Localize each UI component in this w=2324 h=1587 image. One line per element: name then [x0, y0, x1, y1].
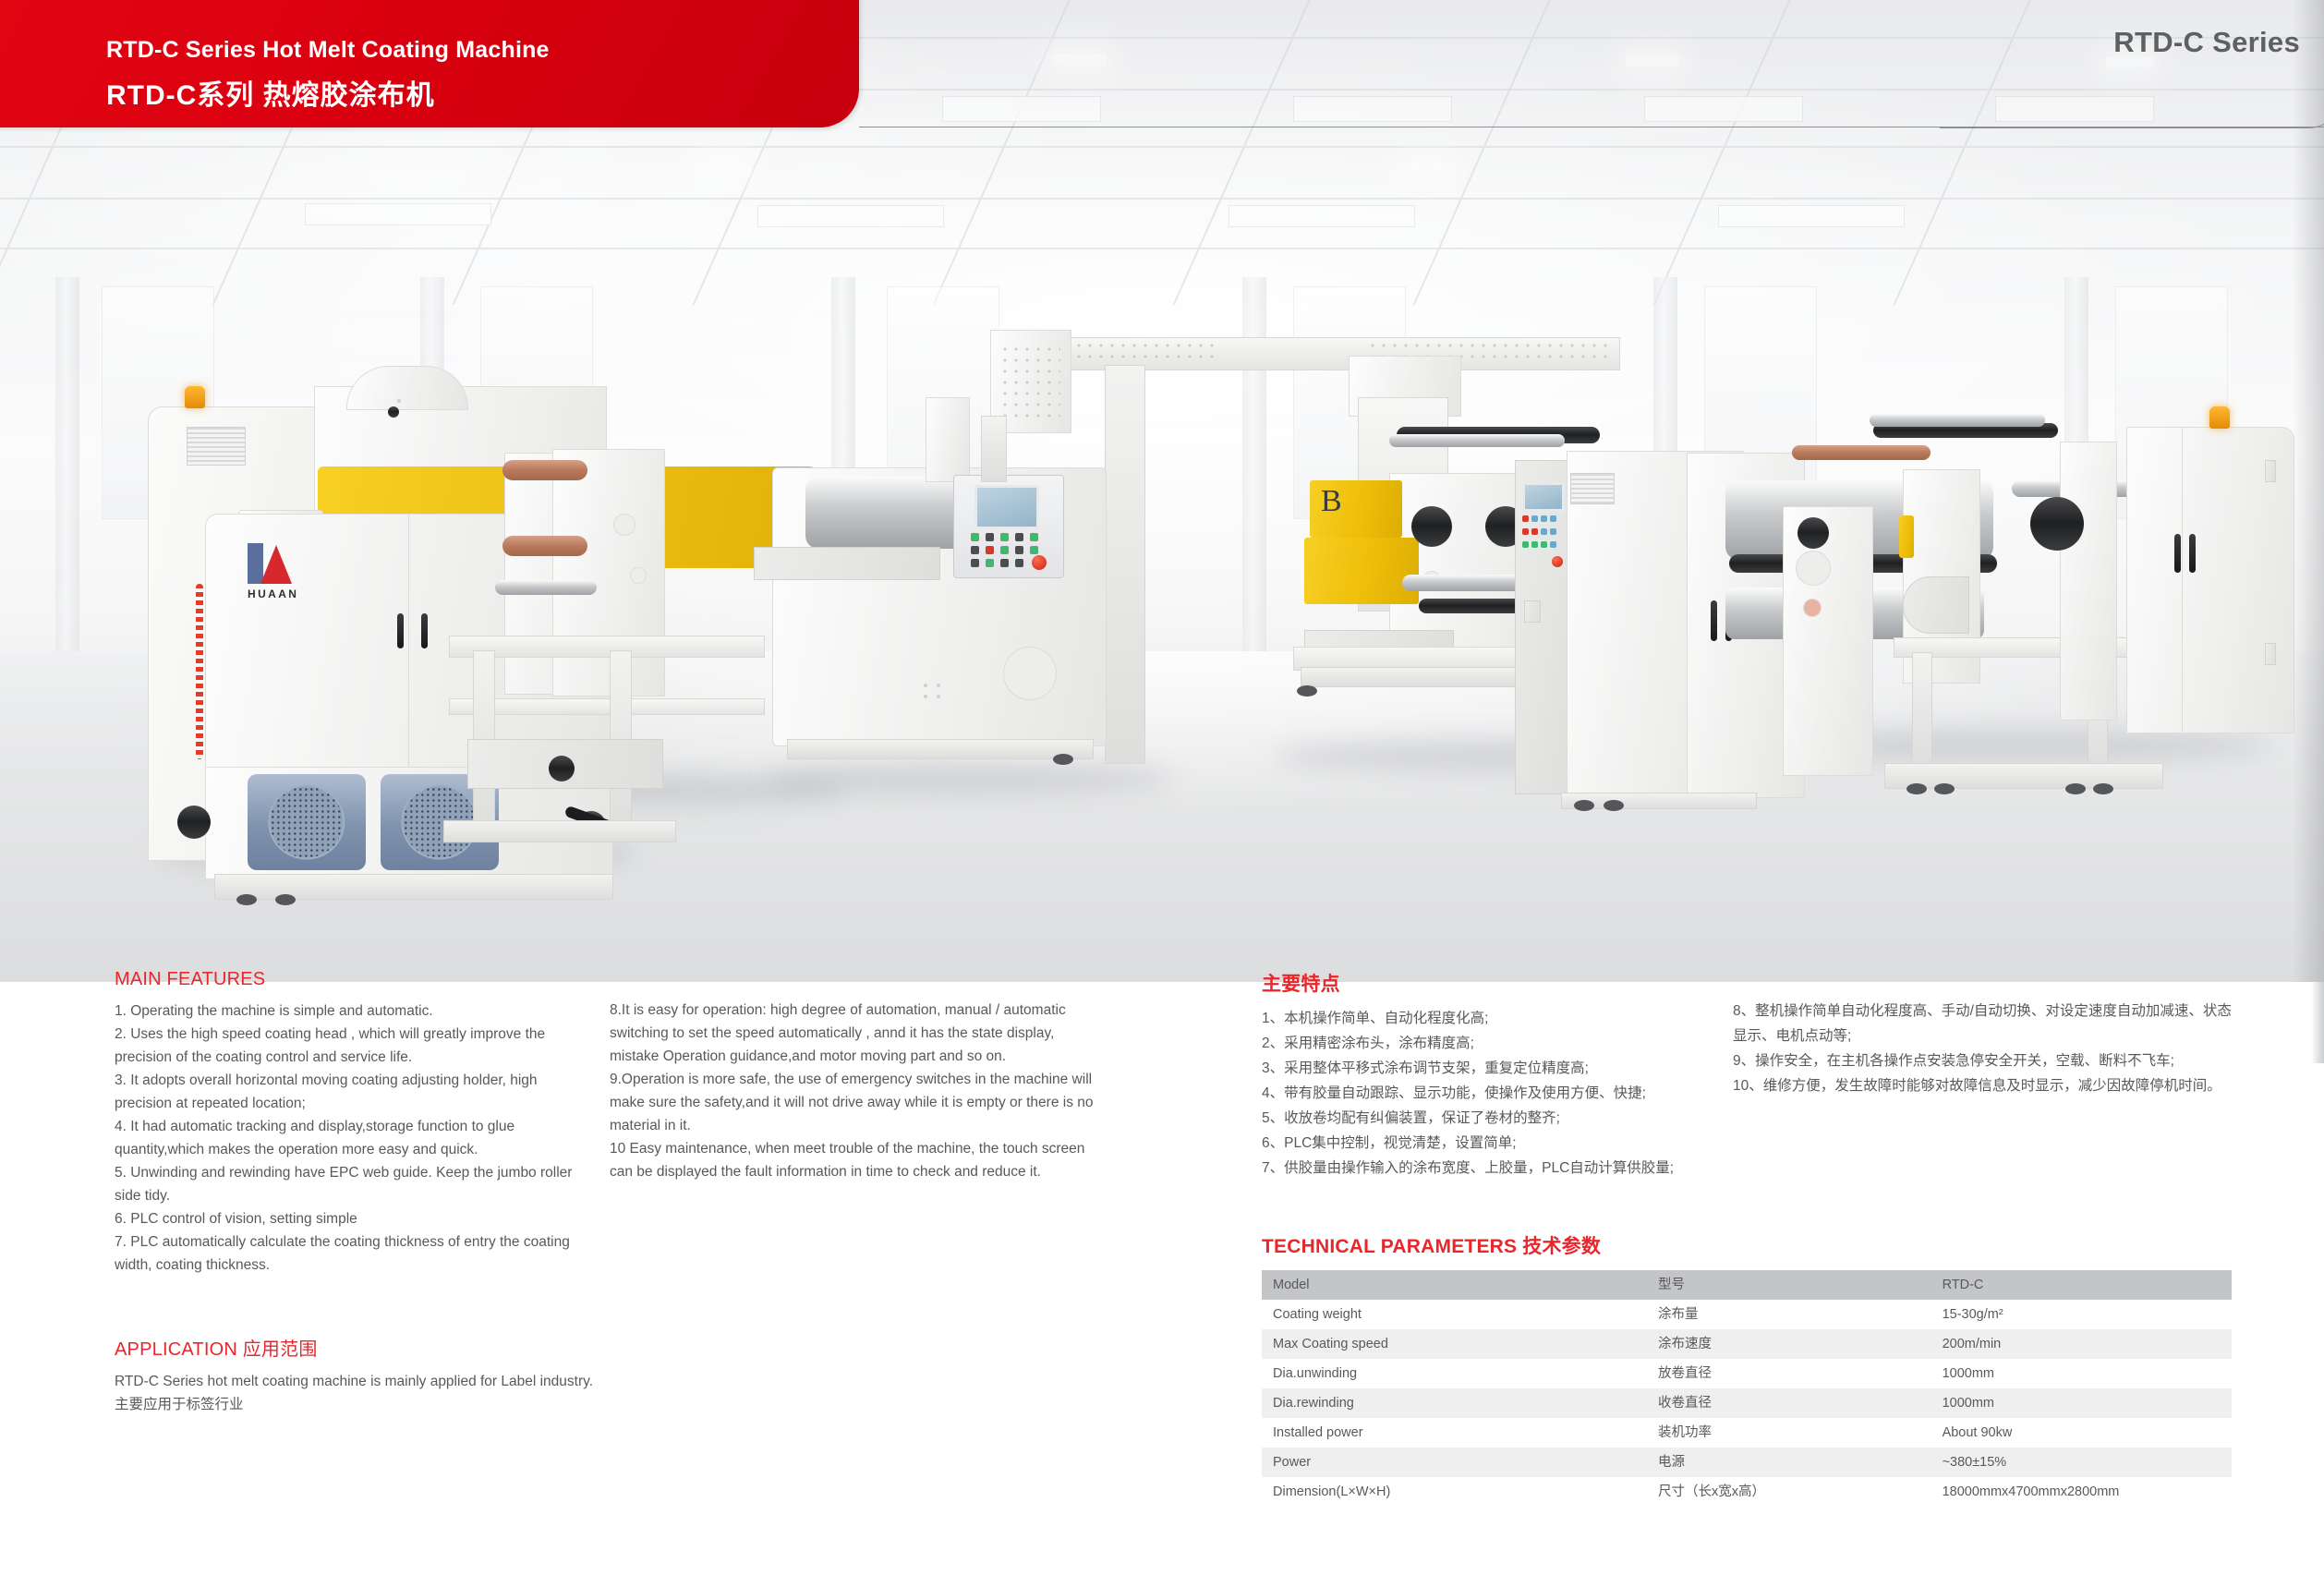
banner-title-cn: RTD-C系列 热熔胶涂布机 [106, 72, 435, 113]
header-divider-line [859, 127, 2324, 127]
feature-item: 6. PLC control of vision, setting simple [115, 1207, 586, 1230]
param-name-cn: 尺寸（长x宽x高） [1647, 1477, 1931, 1507]
emergency-stop-button [1032, 555, 1047, 570]
param-name-en: Dia.unwinding [1262, 1359, 1647, 1388]
application-section: APPLICATION 应用范围 RTD-C Series hot melt c… [115, 1334, 595, 1416]
param-value: ~380±15% [1931, 1448, 2232, 1477]
main-features-cn-column-2: 8、整机操作简单自动化程度高、手动/自动切换、对设定速度自动加减速、状态显示、电… [1733, 999, 2232, 1098]
drive-motor-1 [248, 774, 366, 870]
param-value: 1000mm [1931, 1359, 2232, 1388]
feature-item: 4. It had automatic tracking and display… [115, 1115, 586, 1161]
feature-item: 10 Easy maintenance, when meet trouble o… [610, 1137, 1099, 1183]
table-row: Dia.unwinding放卷直径1000mm [1262, 1359, 2232, 1388]
param-value: 18000mmx4700mmx2800mm [1931, 1477, 2232, 1507]
param-name-cn: 收卷直径 [1647, 1388, 1931, 1418]
table-row: Installed power装机功率About 90kw [1262, 1418, 2232, 1448]
header-banner: RTD-C Series Hot Melt Coating Machine RT… [0, 0, 859, 127]
unwinder-letter-b: B [1321, 484, 1342, 519]
feature-item: 2. Uses the high speed coating head , wh… [115, 1023, 586, 1069]
technical-parameters-section: TECHNICAL PARAMETERS 技术参数 Model型号RTD-CCo… [1262, 1231, 2232, 1507]
warning-beacon-left [185, 386, 205, 408]
series-badge-title: RTD-C Series [1995, 26, 2300, 59]
feature-item-cn: 5、收放卷均配有纠偏装置，保证了卷材的整齐; [1262, 1106, 1724, 1131]
photo-right-edge-shadow [2293, 0, 2324, 982]
operator-control-panel [953, 475, 1064, 578]
feature-item: 9.Operation is more safe, the use of eme… [610, 1068, 1099, 1137]
param-name-en: Model [1262, 1270, 1647, 1300]
product-photo: HUAAN [0, 0, 2324, 982]
table-row: Dimension(L×W×H)尺寸（长x宽x高）18000mmx4700mmx… [1262, 1477, 2232, 1507]
feature-item: 3. It adopts overall horizontal moving c… [115, 1069, 586, 1115]
table-row: Model型号RTD-C [1262, 1270, 2232, 1300]
main-features-cn-heading: 主要特点 [1262, 969, 1724, 997]
hmi-touch-screen [974, 485, 1039, 529]
feature-item: 7. PLC automatically calculate the coati… [115, 1230, 586, 1277]
main-features-list-2: 8.It is easy for operation: high degree … [610, 999, 1099, 1183]
param-name-cn: 装机功率 [1647, 1418, 1931, 1448]
technical-parameters-heading: TECHNICAL PARAMETERS 技术参数 [1262, 1231, 2232, 1259]
param-name-en: Installed power [1262, 1418, 1647, 1448]
feature-item-cn: 2、采用精密涂布头，涂布精度高; [1262, 1031, 1724, 1056]
application-heading: APPLICATION 应用范围 [115, 1334, 595, 1361]
param-name-en: Dia.rewinding [1262, 1388, 1647, 1418]
main-features-column-1: MAIN FEATURES 1. Operating the machine i… [115, 969, 586, 1277]
param-name-en: Dimension(L×W×H) [1262, 1477, 1647, 1507]
param-name-cn: 涂布速度 [1647, 1329, 1931, 1359]
table-row: Coating weight涂布量15-30g/m² [1262, 1300, 2232, 1329]
technical-parameters-table: Model型号RTD-CCoating weight涂布量15-30g/m²Ma… [1262, 1270, 2232, 1507]
feature-item-cn: 1、本机操作简单、自动化程度化高; [1262, 1006, 1724, 1031]
warning-beacon-right [2209, 406, 2230, 429]
param-name-en: Max Coating speed [1262, 1329, 1647, 1359]
param-value: 200m/min [1931, 1329, 2232, 1359]
banner-title-en: RTD-C Series Hot Melt Coating Machine [106, 37, 550, 64]
feature-item-cn: 3、采用整体平移式涂布调节支架，重复定位精度高; [1262, 1056, 1724, 1081]
application-text-en: RTD-C Series hot melt coating machine is… [115, 1370, 595, 1393]
coiled-cable [196, 584, 203, 759]
feature-item: 1. Operating the machine is simple and a… [115, 999, 586, 1023]
side-control-panel [1519, 480, 1568, 591]
application-text-cn: 主要应用于标签行业 [115, 1393, 595, 1416]
feature-item-cn: 10、维修方便，发生故障时能够对故障信息及时显示，减少因故障停机时间。 [1733, 1073, 2232, 1098]
main-features-list-1: 1. Operating the machine is simple and a… [115, 999, 586, 1277]
feature-item-cn: 9、操作安全，在主机各操作点安装急停安全开关，空载、断料不飞车; [1733, 1048, 2232, 1073]
application-body: RTD-C Series hot melt coating machine is… [115, 1370, 595, 1416]
feature-item-cn: 8、整机操作简单自动化程度高、手动/自动切换、对设定速度自动加减速、状态显示、电… [1733, 999, 2232, 1048]
param-name-en: Coating weight [1262, 1300, 1647, 1329]
feature-item: 5. Unwinding and rewinding have EPC web … [115, 1161, 586, 1207]
param-name-cn: 电源 [1647, 1448, 1931, 1477]
content-right-edge-shadow [2311, 982, 2324, 1063]
main-features-cn-column-1: 主要特点 1、本机操作简单、自动化程度化高; 2、采用精密涂布头，涂布精度高; … [1262, 969, 1724, 1181]
param-name-en: Power [1262, 1448, 1647, 1477]
param-name-cn: 放卷直径 [1647, 1359, 1931, 1388]
feature-item-cn: 6、PLC集中控制，视觉清楚，设置简单; [1262, 1131, 1724, 1156]
main-features-column-2: 8.It is easy for operation: high degree … [610, 999, 1099, 1183]
main-features-cn-list-1: 1、本机操作简单、自动化程度化高; 2、采用精密涂布头，涂布精度高; 3、采用整… [1262, 1006, 1724, 1181]
param-value: RTD-C [1931, 1270, 2232, 1300]
table-row: Max Coating speed涂布速度200m/min [1262, 1329, 2232, 1359]
param-name-cn: 型号 [1647, 1270, 1931, 1300]
table-row: Power电源~380±15% [1262, 1448, 2232, 1477]
table-row: Dia.rewinding收卷直径1000mm [1262, 1388, 2232, 1418]
param-value: 15-30g/m² [1931, 1300, 2232, 1329]
huaan-logo-text: HUAAN [248, 588, 298, 600]
feature-item: 8.It is easy for operation: high degree … [610, 999, 1099, 1068]
main-features-heading: MAIN FEATURES [115, 969, 586, 990]
feature-item-cn: 4、带有胶量自动跟踪、显示功能，使操作及使用方便、快捷; [1262, 1081, 1724, 1106]
feature-item-cn: 7、供胶量由操作输入的涂布宽度、上胶量，PLC自动计算供胶量; [1262, 1156, 1724, 1181]
param-name-cn: 涂布量 [1647, 1300, 1931, 1329]
param-value: 1000mm [1931, 1388, 2232, 1418]
main-features-cn-list-2: 8、整机操作简单自动化程度高、手动/自动切换、对设定速度自动加减速、状态显示、电… [1733, 999, 2232, 1098]
param-value: About 90kw [1931, 1418, 2232, 1448]
